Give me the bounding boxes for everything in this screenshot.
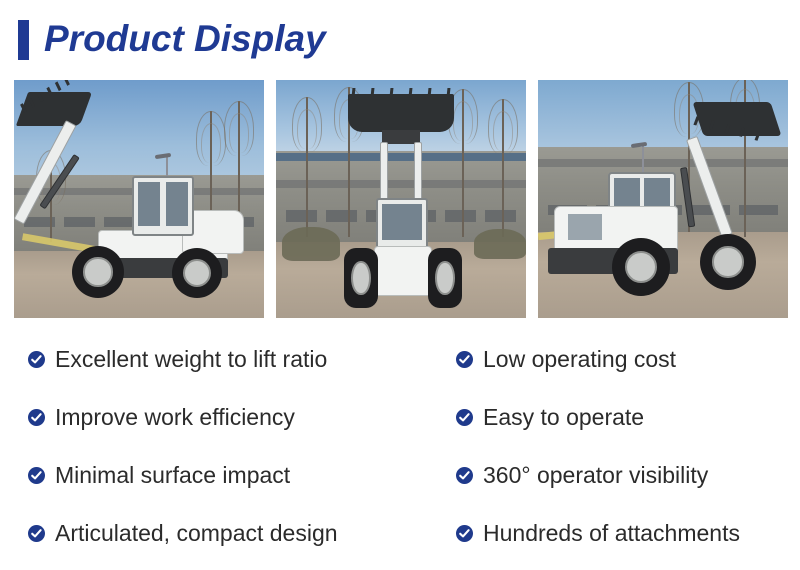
feature-item: Easy to operate bbox=[456, 388, 800, 446]
front-right-wheel bbox=[428, 248, 462, 308]
feature-label: Hundreds of attachments bbox=[483, 520, 740, 546]
bare-tree bbox=[306, 97, 308, 237]
page-header: Product Display bbox=[0, 0, 800, 78]
feature-label: Easy to operate bbox=[483, 404, 644, 430]
front-wheel bbox=[700, 234, 756, 290]
title-accent-bar bbox=[18, 20, 29, 60]
building-band bbox=[538, 159, 788, 166]
bare-tree bbox=[502, 99, 504, 237]
product-photo-1[interactable] bbox=[14, 80, 264, 318]
loader-bucket bbox=[348, 94, 454, 132]
check-circle-icon bbox=[28, 525, 45, 542]
check-circle-icon bbox=[28, 409, 45, 426]
building-roof-band bbox=[276, 153, 526, 161]
wheel-loader-rear-side-view-image bbox=[538, 80, 788, 318]
feature-item: 360° operator visibility bbox=[456, 446, 800, 504]
check-circle-icon bbox=[28, 351, 45, 368]
check-circle-icon bbox=[456, 467, 473, 484]
check-circle-icon bbox=[456, 409, 473, 426]
bare-tree bbox=[462, 89, 464, 237]
roadside-bush bbox=[282, 227, 340, 261]
cab-window bbox=[382, 204, 422, 240]
check-circle-icon bbox=[28, 467, 45, 484]
product-image-gallery bbox=[14, 80, 788, 318]
feature-column-right: Low operating cost Easy to operate 360° … bbox=[456, 330, 800, 562]
product-photo-3[interactable] bbox=[538, 80, 788, 318]
front-left-wheel bbox=[344, 248, 378, 308]
wheel-loader-front-view-image bbox=[276, 80, 526, 318]
product-photo-2[interactable] bbox=[276, 80, 526, 318]
check-circle-icon bbox=[456, 525, 473, 542]
page-title: Product Display bbox=[44, 14, 326, 64]
feature-item: Improve work efficiency bbox=[28, 388, 448, 446]
feature-column-left: Excellent weight to lift ratio Improve w… bbox=[28, 330, 448, 562]
wheel-loader-side-view-image bbox=[14, 80, 264, 318]
cab-window bbox=[138, 182, 160, 226]
feature-label: Improve work efficiency bbox=[55, 404, 295, 430]
feature-item: Minimal surface impact bbox=[28, 446, 448, 504]
feature-item: Articulated, compact design bbox=[28, 504, 448, 562]
roadside-bush bbox=[474, 229, 526, 259]
feature-label: Minimal surface impact bbox=[55, 462, 290, 488]
rear-panel-window bbox=[568, 214, 602, 240]
rear-wheel bbox=[172, 248, 222, 298]
feature-list: Excellent weight to lift ratio Improve w… bbox=[0, 330, 800, 570]
building-band bbox=[276, 180, 526, 188]
bucket-teeth bbox=[352, 88, 450, 97]
feature-label: Articulated, compact design bbox=[55, 520, 338, 546]
rear-wheel bbox=[612, 238, 670, 296]
feature-item: Low operating cost bbox=[456, 330, 800, 388]
feature-label: Excellent weight to lift ratio bbox=[55, 346, 327, 372]
feature-label: Low operating cost bbox=[483, 346, 676, 372]
check-circle-icon bbox=[456, 351, 473, 368]
loader-chassis bbox=[374, 246, 432, 296]
feature-label: 360° operator visibility bbox=[483, 462, 708, 488]
feature-item: Hundreds of attachments bbox=[456, 504, 800, 562]
feature-item: Excellent weight to lift ratio bbox=[28, 330, 448, 388]
cab-window bbox=[166, 182, 188, 226]
front-wheel bbox=[72, 246, 124, 298]
